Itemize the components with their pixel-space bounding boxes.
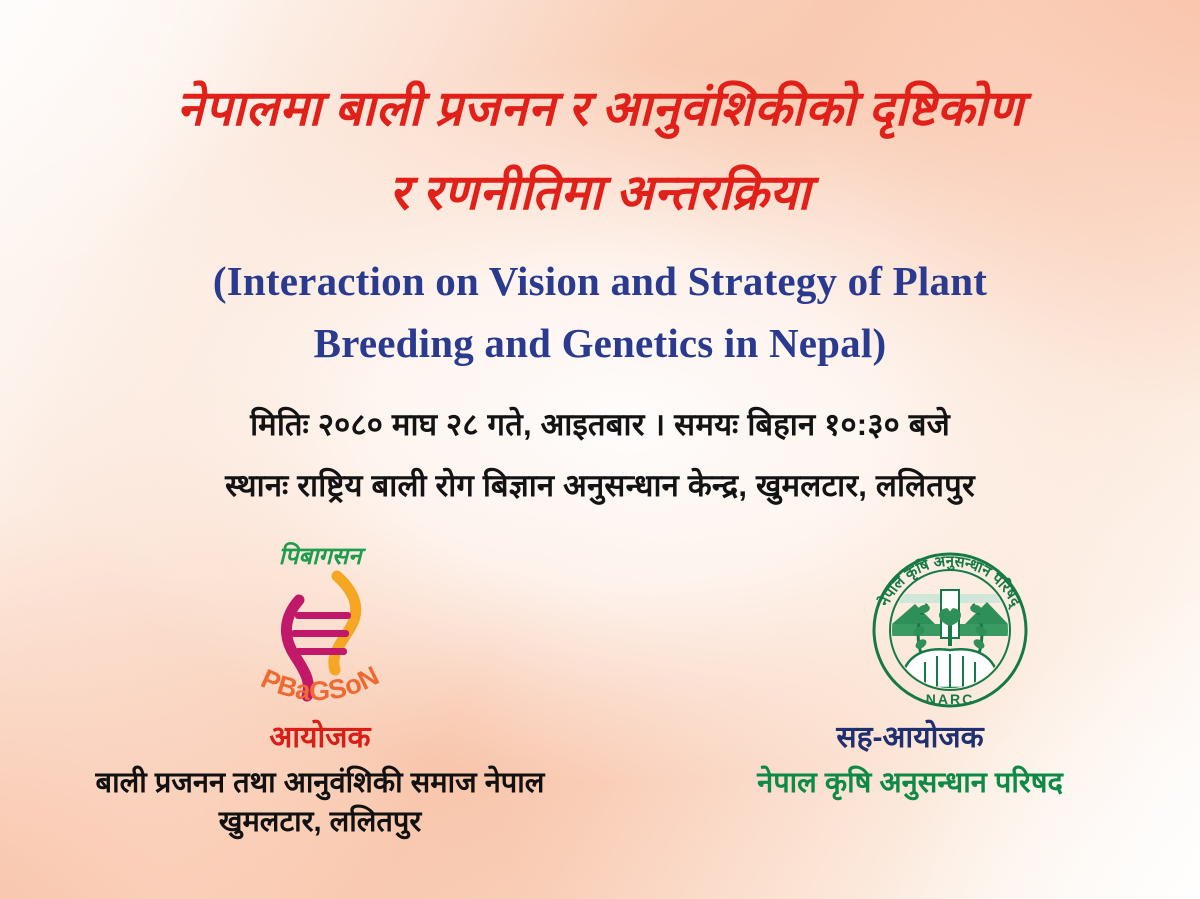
narc-logo-graphic: नेपाल कृषि अनुसन्धान परिषद् <box>855 538 1045 718</box>
pbagson-logo: पिबागसन PBaGSoN <box>225 538 415 718</box>
narc-logo: नेपाल कृषि अनुसन्धान परिषद् <box>855 538 1045 718</box>
event-poster: नेपालमा बाली प्रजनन र आनुवंशिकीको दृष्टि… <box>0 0 1200 899</box>
poster-title-nepali-line1: नेपालमा बाली प्रजनन र आनुवंशिकीको दृष्टि… <box>0 84 1200 133</box>
organizer-role-label: आयोजक <box>20 722 620 754</box>
poster-subtitle-english-line2: Breeding and Genetics in Nepal) <box>0 323 1200 364</box>
organizer-address: खुमलटार, ललितपुर <box>20 803 620 842</box>
helix-rung-3 <box>295 648 347 655</box>
event-venue-line: स्थानः राष्ट्रिय बाली रोग बिज्ञान अनुसन्… <box>0 470 1200 501</box>
pbagson-logo-nepali-text: पिबागसन <box>279 542 367 570</box>
helix-rung-2 <box>291 630 349 637</box>
helix-rung-1 <box>295 612 351 619</box>
co-organizer-role-label: सह-आयोजक <box>640 722 1180 754</box>
event-date-time-line: मितिः २०८० माघ २८ गते, आइतबार । समयः बिह… <box>0 409 1200 440</box>
co-organizer-name: नेपाल कृषि अनुसन्धान परिषद <box>640 764 1180 803</box>
pbagson-logo-graphic: पिबागसन PBaGSoN <box>225 538 415 718</box>
poster-subtitle-english-line1: (Interaction on Vision and Strategy of P… <box>0 261 1200 302</box>
poster-content: नेपालमा बाली प्रजनन र आनुवंशिकीको दृष्टि… <box>0 0 1200 899</box>
organizer-name: बाली प्रजनन तथा आनुवंशिकी समाज नेपाल <box>20 764 620 803</box>
narc-hill-right <box>965 602 1008 624</box>
pbagson-wordmark: PBaGSoN <box>257 660 384 706</box>
co-organizer-block: नेपाल कृषि अनुसन्धान परिषद् <box>640 538 1180 803</box>
organizer-block: पिबागसन PBaGSoN आयोजक बा <box>20 538 620 842</box>
poster-title-nepali-line2: र रणनीतिमा अन्तरक्रिया <box>0 168 1200 217</box>
helix-strand-orange <box>334 576 356 670</box>
narc-bottom-text: NARC <box>926 691 974 707</box>
